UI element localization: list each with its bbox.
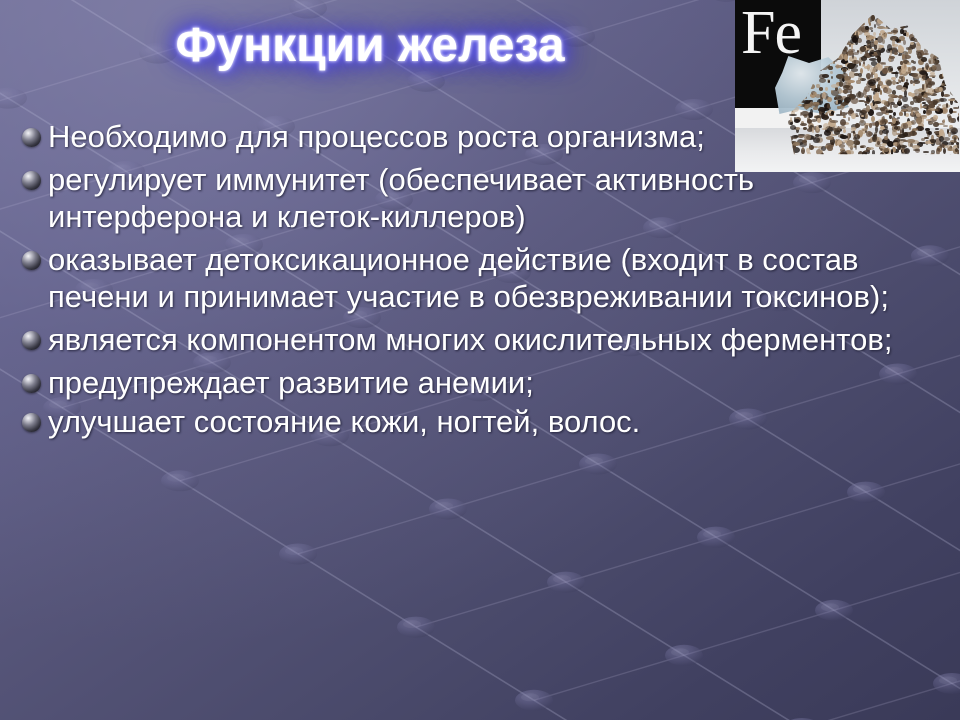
list-item: регулирует иммунитет (обеспечивает актив… — [0, 161, 960, 235]
sphere-bullet-icon — [22, 171, 41, 190]
list-item-label: регулирует иммунитет (обеспечивает актив… — [48, 161, 960, 235]
page-title: Функции железа — [0, 18, 740, 73]
list-item: является компонентом многих окислительны… — [0, 321, 960, 358]
list-item-label: является компонентом многих окислительны… — [48, 321, 960, 358]
sphere-bullet-icon — [22, 413, 41, 432]
list-item-label: Необходимо для процессов роста организма… — [48, 118, 744, 155]
list-item: улучшает состояние кожи, ногтей, волос. — [0, 403, 960, 440]
fe-symbol-text: Fe — [741, 2, 801, 64]
sphere-bullet-icon — [22, 128, 41, 147]
list-item: оказывает детоксикационное действие (вхо… — [0, 241, 960, 315]
list-item: Необходимо для процессов роста организма… — [0, 118, 960, 155]
sphere-bullet-icon — [22, 374, 41, 393]
list-item-label: улучшает состояние кожи, ногтей, волос. — [48, 403, 960, 440]
list-item-label: предупреждает развитие анемии; — [48, 364, 960, 401]
list-item: предупреждает развитие анемии; — [0, 364, 960, 401]
slide: Fe Функции железа Необходимо для процесс… — [0, 0, 960, 720]
sphere-bullet-icon — [22, 251, 41, 270]
sphere-bullet-icon — [22, 331, 41, 350]
bullet-list: Необходимо для процессов роста организма… — [0, 118, 960, 440]
list-item-label: оказывает детоксикационное действие (вхо… — [48, 241, 960, 315]
